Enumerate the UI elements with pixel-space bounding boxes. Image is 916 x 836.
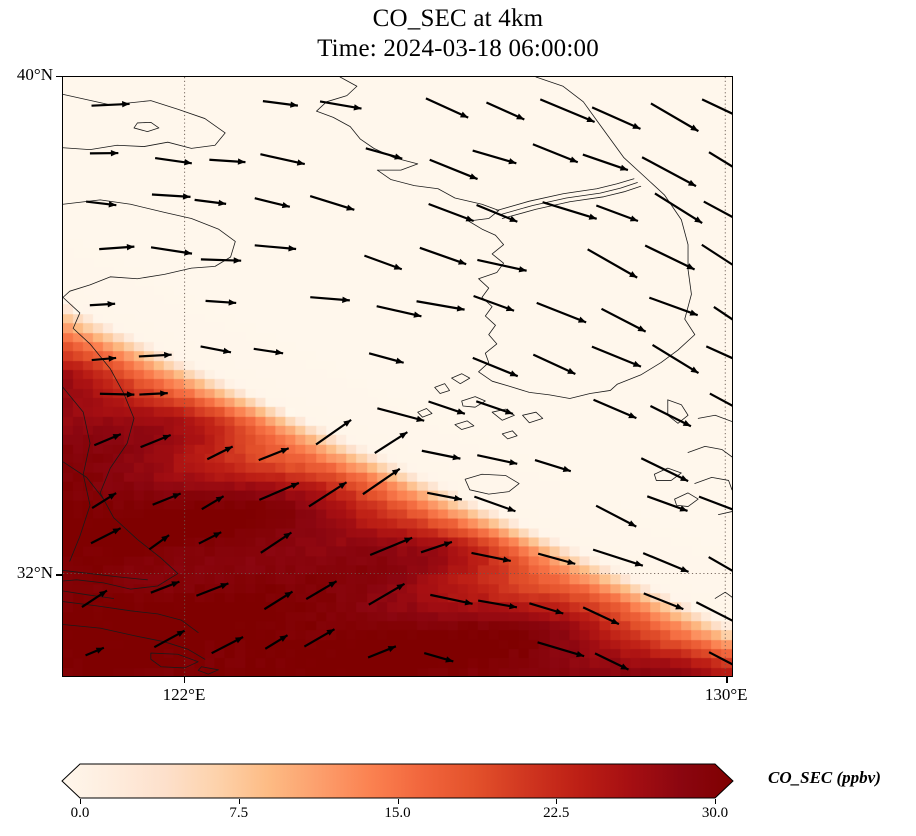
wind-arrow [471,553,510,563]
wind-arrow [254,349,283,355]
wind-arrow [417,301,465,311]
wind-arrow [207,446,232,459]
wind-arrow [100,391,134,397]
wind-arrow [647,496,687,511]
wind-arrow [304,629,334,646]
wind-arrow [645,246,694,270]
wind-arrow [153,493,181,504]
wind-arrow [90,150,118,156]
coastline-path [418,408,432,417]
colorbar-tick-mark-0 [80,799,81,804]
wind-arrow [310,196,354,211]
wind-arrow [91,528,121,543]
coastline-path [688,446,732,457]
wind-arrow [86,201,116,207]
wind-arrow [370,538,412,555]
wind-arrow [641,458,688,481]
wind-arrow [369,584,405,605]
wind-arrow [473,358,518,376]
wind-arrow [486,103,524,120]
wind-arrow [476,401,513,414]
wind-arrow [706,346,732,369]
wind-arrow [596,506,636,527]
coastline-path [455,421,474,430]
wind-arrow [320,101,361,110]
wind-arrow [429,204,474,221]
wind-arrow [474,296,514,311]
coastline-path [452,374,470,384]
y-axis-tick-mark-0 [56,76,62,77]
colorbar-tick-mark-1 [239,799,240,804]
wind-arrow [201,346,231,354]
wind-arrow [363,469,400,494]
coastline-path [316,77,498,235]
coastline-path [134,122,159,131]
wind-arrow [709,557,732,585]
coastline-path [718,512,732,515]
wind-vector-layer [82,98,732,676]
wind-arrow [478,601,517,610]
wind-arrow [86,648,104,656]
colorbar-tick-mark-2 [398,799,399,804]
coastline-path [502,431,517,439]
wind-arrow [259,448,289,460]
wind-arrow [538,554,575,565]
wind-arrow [427,493,462,501]
wind-arrow [259,483,299,500]
colorbar-tick-mark-3 [556,799,557,804]
wind-arrow [429,402,465,415]
wind-arrow [199,532,221,543]
coastline-path [63,462,104,499]
wind-arrow [195,200,227,206]
wind-arrow [263,101,298,108]
wind-arrow [202,496,224,509]
x-axis-tick-label-0: 122°E [134,685,234,705]
wind-arrow [196,583,228,596]
coastline-path [523,412,543,423]
wind-arrow [583,155,628,171]
wind-arrow [651,103,698,131]
coastline-layer [63,77,732,674]
wind-arrow [206,299,237,305]
coastline-path [63,297,178,589]
coastline-path [63,94,225,149]
wind-arrow [588,249,638,277]
wind-arrow [650,406,690,426]
colorbar-gradient [62,763,733,799]
x-axis-tick-mark-1 [726,677,727,683]
wind-arrow [99,244,134,250]
wind-arrow [649,298,697,316]
wind-arrow [422,451,461,460]
coastline-path [675,493,699,507]
wind-arrow [709,152,732,180]
wind-arrow [255,198,290,208]
coastline-path [63,387,90,561]
wind-arrow [533,144,578,162]
wind-arrow [368,646,396,657]
wind-arrow [309,482,347,506]
wind-arrow [710,394,732,419]
wind-arrow [430,595,472,606]
wind-arrow [151,247,192,255]
wind-arrow [255,245,296,251]
wind-arrow [154,631,184,648]
wind-arrow [306,581,336,599]
wind-arrow [260,154,304,165]
map-plot-area[interactable] [62,76,733,677]
wind-arrow [151,581,180,592]
wind-arrow [596,205,638,221]
wind-arrow [139,390,167,396]
wind-arrow [540,99,594,122]
y-axis-tick-label-1: 32°N [17,563,53,583]
wind-arrow [714,307,732,333]
coastline-path [479,235,618,398]
coastline-path [715,592,732,598]
wind-arrow [474,497,515,512]
wind-arrow [430,160,478,180]
wind-arrow [601,309,645,332]
wind-arrow [92,493,116,508]
wind-arrow [377,306,422,317]
wind-arrow [364,256,401,270]
wind-arrow [310,297,350,303]
wind-arrow [155,158,192,165]
coastline-path [698,415,732,421]
wind-arrow [595,653,628,669]
wind-arrow [533,355,575,374]
wind-arrow [265,635,287,649]
wind-arrow [141,435,171,447]
wind-arrow [709,652,732,676]
wind-arrow [90,301,115,307]
wind-arrow [139,352,172,358]
coastline-path [63,624,205,659]
coastline-path [435,384,450,394]
wind-arrow [537,303,586,323]
wind-arrow [375,432,408,453]
wind-arrow [366,148,402,159]
map-vector-overlay [63,77,732,676]
title-line-variable: CO_SEC at 4km [0,4,916,34]
coastline-path [198,667,218,674]
wind-arrow [592,107,640,128]
wind-arrow [592,347,641,367]
wind-arrow [420,248,466,265]
wind-arrow [653,345,699,373]
colorbar-tick-label-4: 30.0 [702,805,728,822]
wind-arrow [261,532,292,552]
wind-arrow [538,642,585,657]
wind-arrow [583,607,619,624]
figure-title: CO_SEC at 4km Time: 2024-03-18 06:00:00 [0,4,916,63]
colorbar-tick-label-1: 7.5 [229,805,248,822]
wind-arrow [369,353,404,364]
coastline-path [151,653,198,668]
colorbar-tick-label-3: 22.5 [543,805,569,822]
wind-arrow [209,158,245,164]
wind-arrow [426,98,468,117]
wind-arrow [699,497,732,514]
wind-arrow [702,99,732,122]
x-axis-tick-mark-0 [184,677,185,683]
wind-arrow [643,553,688,572]
wind-arrow [212,637,243,653]
wind-arrow [594,400,637,418]
wind-arrow [82,590,107,607]
wind-arrow [473,151,517,165]
wind-arrow [704,202,732,226]
wind-arrow [149,535,169,549]
wind-arrow [655,193,702,223]
colorbar-label: CO_SEC (ppbv) [768,768,881,788]
wind-arrow [477,455,517,465]
coastline-path [63,200,235,297]
wind-arrow [424,653,453,662]
wind-arrow [529,603,563,614]
wind-arrow [593,550,643,567]
wind-arrow [377,408,424,422]
wind-arrow [543,202,597,220]
wind-arrow [316,420,351,445]
wind-arrow [702,245,732,278]
wind-arrow [644,593,684,609]
coastline-path [654,468,681,480]
wind-arrow [264,592,292,610]
coastline-path [695,477,732,489]
wind-arrow [421,541,452,552]
y-axis-tick-label-0: 40°N [17,65,53,85]
coastline-path [63,570,147,579]
wind-arrow [94,434,121,445]
colorbar-tick-label-2: 15.0 [384,805,410,822]
colorbar-tick-label-0: 0.0 [71,805,90,822]
wind-arrow [152,193,191,199]
x-axis-tick-label-1: 130°E [676,685,776,705]
y-axis-tick-mark-1 [56,574,62,575]
coastline-path [536,77,695,384]
colorbar[interactable] [62,763,733,799]
wind-arrow [696,602,732,626]
colorbar-tick-mark-4 [715,799,716,804]
coastline-path [462,397,486,408]
wind-arrow [535,460,571,472]
title-line-time: Time: 2024-03-18 06:00:00 [0,34,916,64]
coastline-path [465,474,519,494]
